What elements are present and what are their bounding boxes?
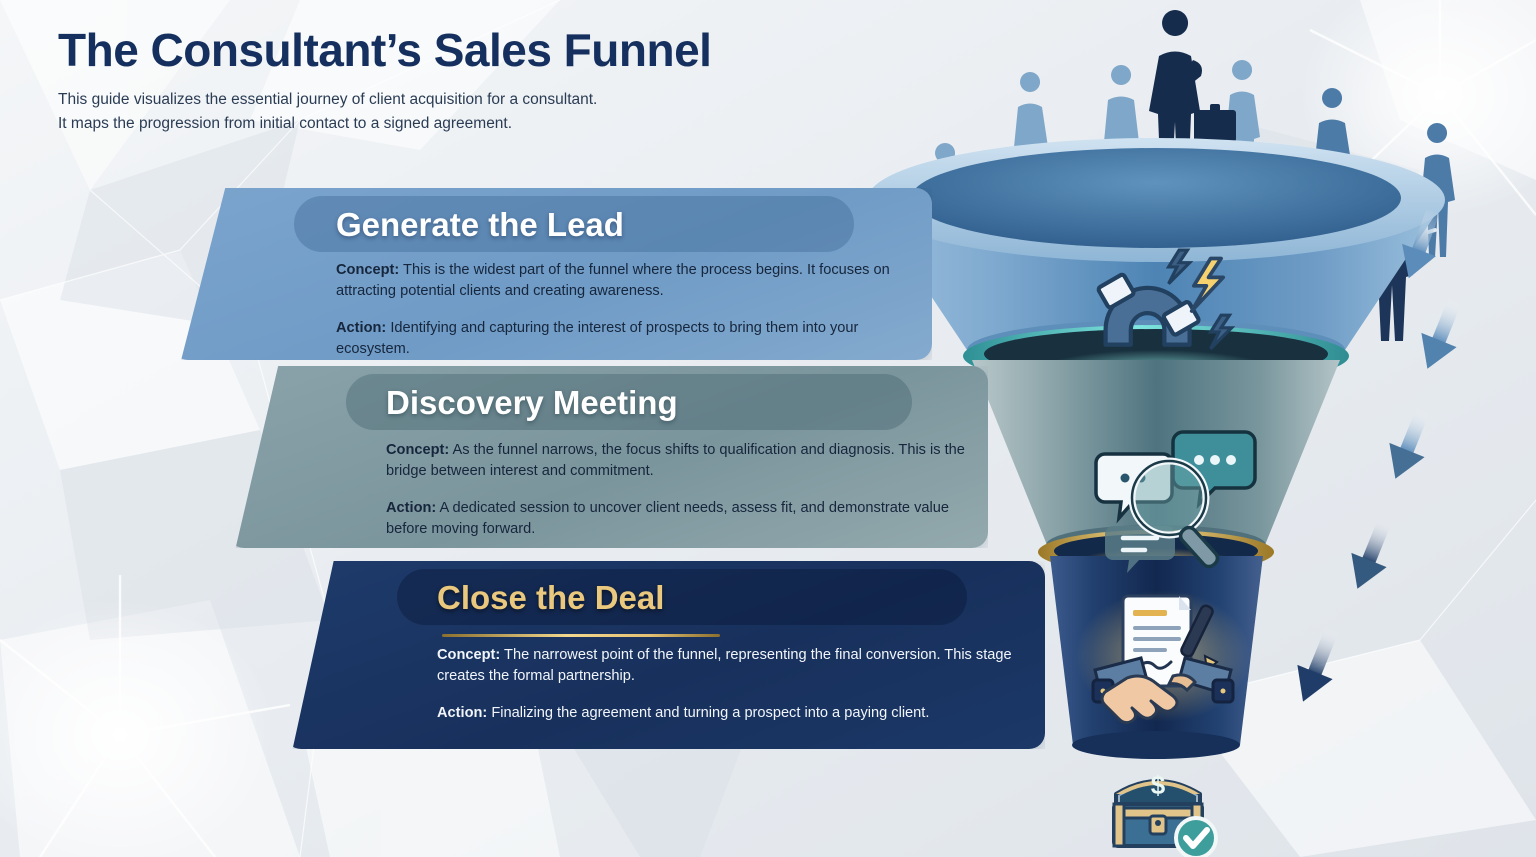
stage-concept: Concept: This is the widest part of the … <box>336 260 911 302</box>
stage-title-pill: Generate the Lead <box>294 196 854 252</box>
action-label: Action: <box>437 705 487 721</box>
stage-action: Action: A dedicated session to uncover c… <box>386 498 966 540</box>
stage-panel-close-the-deal[interactable]: Close the Deal Concept: The narrowest po… <box>285 561 1045 749</box>
stage-panel-generate-the-lead[interactable]: Generate the Lead Concept: This is the w… <box>172 188 932 360</box>
stage-body: Concept: As the funnel narrows, the focu… <box>386 440 966 539</box>
action-text: Finalizing the agreement and turning a p… <box>487 705 929 721</box>
concept-label: Concept: <box>386 442 449 458</box>
stage-body: Concept: The narrowest point of the funn… <box>437 645 1017 724</box>
concept-text: This is the widest part of the funnel wh… <box>336 262 890 299</box>
concept-text: As the funnel narrows, the focus shifts … <box>386 442 965 479</box>
action-text: Identifying and capturing the interest o… <box>336 320 858 357</box>
stage-action: Action: Identifying and capturing the in… <box>336 318 911 360</box>
handshake-contract-icon <box>1075 590 1251 723</box>
svg-text:$: $ <box>1151 770 1166 800</box>
page-header: The Consultant’s Sales Funnel This guide… <box>58 26 711 135</box>
action-label: Action: <box>386 500 436 516</box>
stage-title-pill: Close the Deal <box>397 569 967 625</box>
stage-action: Action: Finalizing the agreement and tur… <box>437 703 1017 724</box>
page-subtitle: This guide visualizes the essential jour… <box>58 88 711 135</box>
concept-label: Concept: <box>336 262 399 278</box>
stage-title-pill: Discovery Meeting <box>346 374 912 430</box>
page-title: The Consultant’s Sales Funnel <box>58 26 711 74</box>
treasure-chest-check-icon: $ <box>1114 770 1216 857</box>
stage-title-underline <box>442 634 720 637</box>
action-text: A dedicated session to uncover client ne… <box>386 500 949 537</box>
action-label: Action: <box>336 320 386 336</box>
stage-concept: Concept: The narrowest point of the funn… <box>437 645 1017 687</box>
concept-text: The narrowest point of the funnel, repre… <box>437 647 1012 684</box>
stage-concept: Concept: As the funnel narrows, the focu… <box>386 440 966 482</box>
stage-title: Discovery Meeting <box>386 386 678 419</box>
stage-title: Close the Deal <box>437 581 664 614</box>
stage-body: Concept: This is the widest part of the … <box>336 260 911 359</box>
stage-title: Generate the Lead <box>336 208 624 241</box>
concept-label: Concept: <box>437 647 500 663</box>
stage-panel-discovery-meeting[interactable]: Discovery Meeting Concept: As the funnel… <box>228 366 988 548</box>
